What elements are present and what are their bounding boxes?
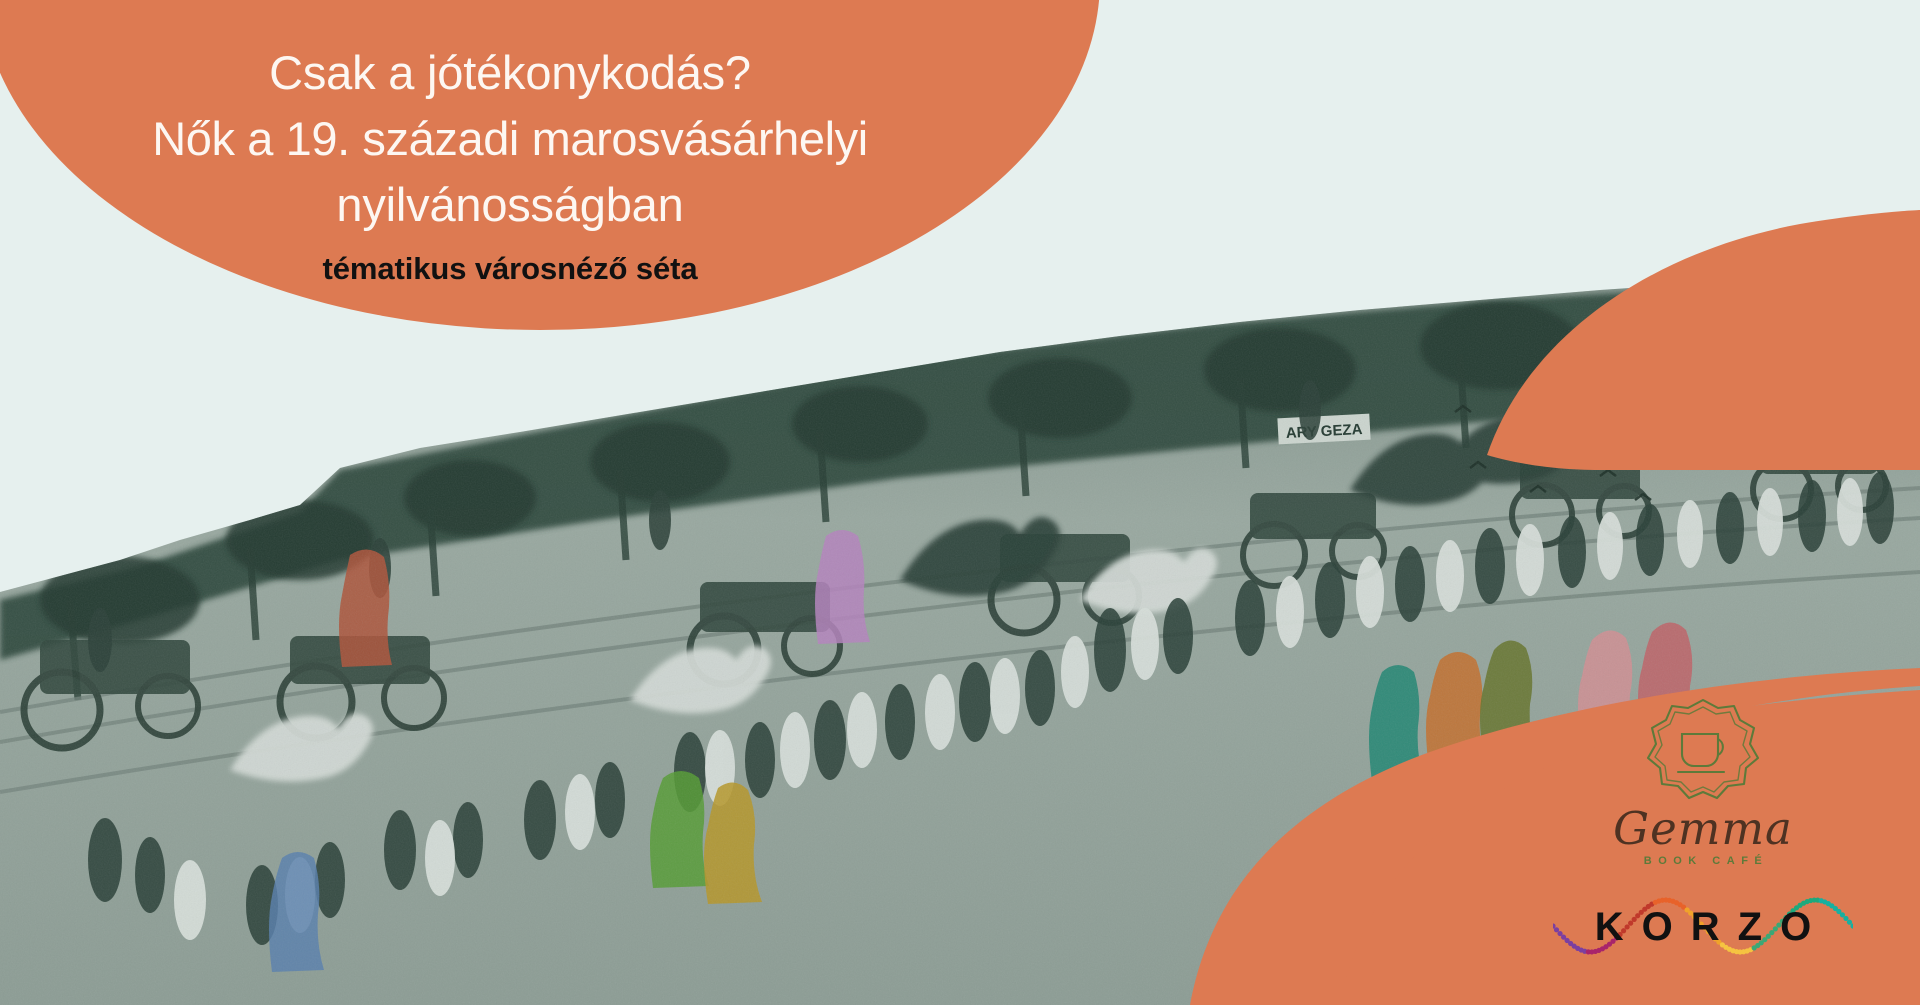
- logo-block: Gemma BOOK CAFÉ KORZO: [1538, 692, 1868, 969]
- coffee-cup-icon: [1638, 692, 1768, 810]
- gemma-wordmark: Gemma: [1613, 806, 1793, 851]
- poster-canvas: ARY GEZA: [0, 0, 1920, 1005]
- korzo-logo[interactable]: KORZO: [1553, 883, 1853, 969]
- korzo-wordmark: KORZO: [1553, 905, 1853, 950]
- gemma-tagline: BOOK CAFÉ: [1644, 855, 1769, 867]
- gemma-logo[interactable]: Gemma BOOK CAFÉ: [1613, 692, 1793, 867]
